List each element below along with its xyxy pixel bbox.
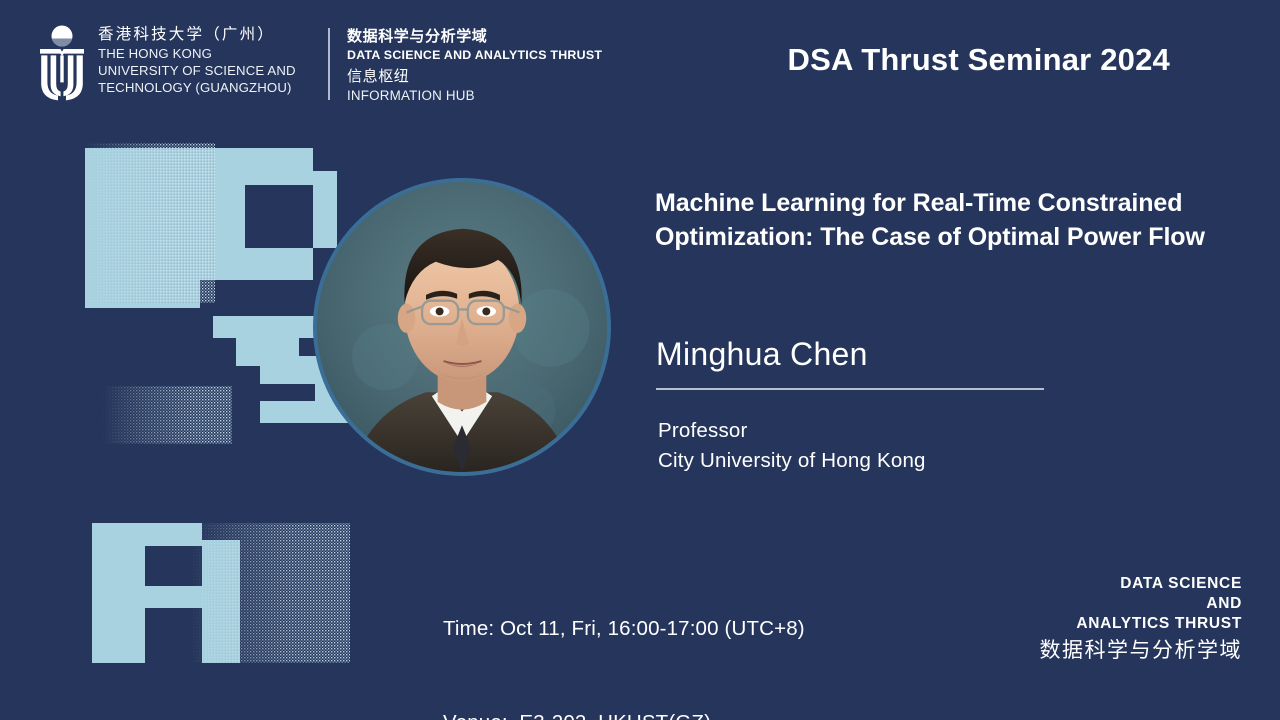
footer-brand-line-cn: 数据科学与分析学域 (1040, 636, 1243, 665)
footer-brand-block: DATA SCIENCE AND ANALYTICS THRUST 数据科学与分… (1040, 574, 1243, 665)
talk-title: Machine Learning for Real-Time Constrain… (655, 186, 1240, 254)
event-time: Time: Oct 11, Fri, 16:00-17:00 (UTC+8) (443, 613, 805, 644)
event-venue: Venue: E3-202, HKUST(GZ) (443, 707, 805, 720)
seminar-series-title: DSA Thrust Seminar 2024 (788, 42, 1170, 78)
speaker-affiliation-block: Professor City University of Hong Kong (658, 416, 926, 477)
footer-brand-line3: ANALYTICS THRUST (1040, 614, 1243, 634)
speaker-affiliation: City University of Hong Kong (658, 446, 926, 476)
hub-name-cn: 信息枢纽 (347, 67, 602, 87)
university-name-en-1: THE HONG KONG (98, 46, 296, 63)
hub-name-en: INFORMATION HUB (347, 87, 602, 105)
thrust-name-block: 数据科学与分析学域 DATA SCIENCE AND ANALYTICS THR… (347, 27, 602, 105)
university-name-cn: 香港科技大学（广州） (98, 26, 296, 45)
speaker-title: Professor (658, 416, 926, 446)
university-name-en-2: UNIVERSITY OF SCIENCE AND (98, 63, 296, 80)
poster-header: 香港科技大学（广州） THE HONG KONG UNIVERSITY OF S… (0, 0, 1280, 120)
thrust-name-en: DATA SCIENCE AND ANALYTICS THRUST (347, 47, 602, 64)
seminar-poster: 香港科技大学（广州） THE HONG KONG UNIVERSITY OF S… (0, 0, 1280, 720)
footer-brand-line1: DATA SCIENCE (1040, 574, 1243, 594)
hkust-crest-icon (36, 24, 88, 102)
university-name-block: 香港科技大学（广州） THE HONG KONG UNIVERSITY OF S… (98, 24, 296, 97)
event-details-block: Time: Oct 11, Fri, 16:00-17:00 (UTC+8) V… (443, 551, 805, 720)
speaker-name: Minghua Chen (656, 336, 868, 373)
university-name-en-3: TECHNOLOGY (GUANGZHOU) (98, 80, 296, 97)
hkust-logo-lockup: 香港科技大学（广州） THE HONG KONG UNIVERSITY OF S… (36, 24, 296, 102)
header-divider (328, 28, 330, 100)
footer-brand-line2: AND (1040, 594, 1243, 614)
speaker-portrait (313, 178, 611, 476)
thrust-name-cn: 数据科学与分析学域 (347, 27, 602, 47)
speaker-name-rule (656, 388, 1044, 390)
